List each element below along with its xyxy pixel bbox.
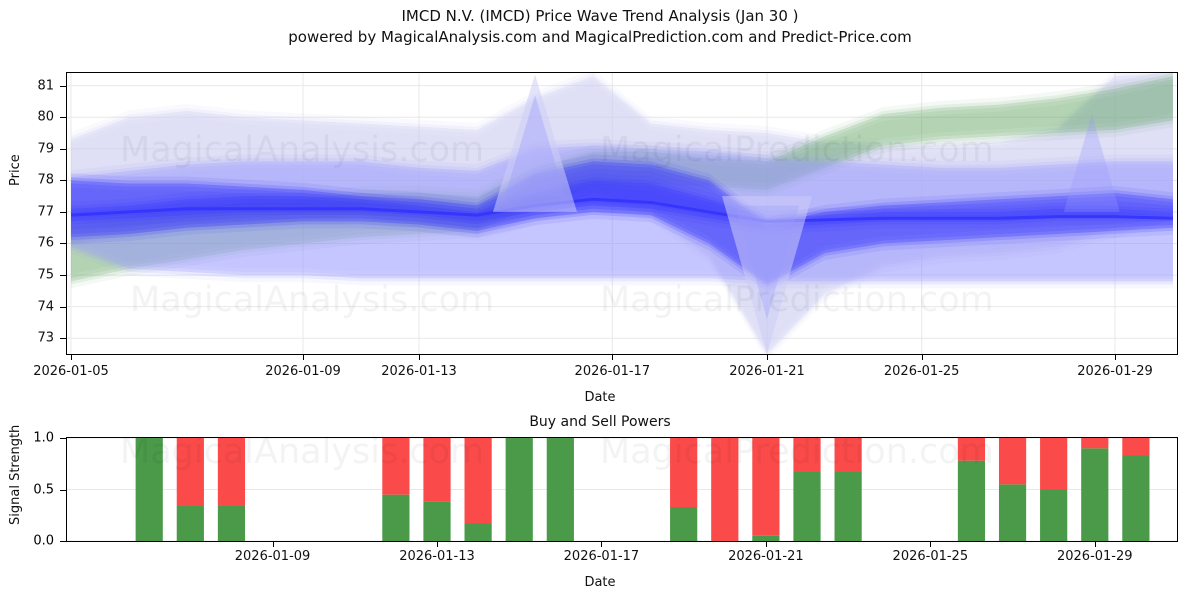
page-subtitle: powered by MagicalAnalysis.com and Magic…: [0, 26, 1200, 48]
sell-power-segment: [835, 438, 862, 472]
price-x-tick-mark: [767, 355, 768, 360]
signal-bar: [1122, 438, 1149, 541]
signal-chart-title: Buy and Sell Powers: [0, 414, 1200, 430]
price-y-tick-label: 78: [0, 173, 54, 188]
buy-sell-powers-chart: [66, 437, 1178, 542]
signal-x-tick-mark: [766, 542, 767, 547]
signal-y-tick-label: 1.0: [0, 431, 54, 446]
signal-x-tick-label: 2026-01-21: [728, 549, 804, 564]
signal-x-tick-label: 2026-01-17: [564, 549, 640, 564]
signal-x-tick-mark: [601, 542, 602, 547]
price-y-tick-label: 74: [0, 299, 54, 314]
signal-bar: [177, 438, 204, 541]
price-x-tick-label: 2026-01-05: [33, 364, 109, 379]
price-x-tick-label: 2026-01-09: [265, 364, 341, 379]
signal-x-tick-mark: [273, 542, 274, 547]
signal-x-tick-mark: [437, 542, 438, 547]
price-y-tick-label: 76: [0, 236, 54, 251]
price-x-tick-label: 2026-01-13: [381, 364, 457, 379]
chart-title-block: IMCD N.V. (IMCD) Price Wave Trend Analys…: [0, 6, 1200, 48]
buy-power-segment: [506, 438, 533, 541]
signal-bar: [218, 438, 245, 541]
buy-power-segment: [218, 506, 245, 541]
sell-power-segment: [958, 438, 985, 461]
signal-bar: [670, 438, 697, 541]
buy-power-segment: [835, 472, 862, 541]
price-plot-area: [67, 73, 1177, 354]
price-x-tick-label: 2026-01-17: [575, 364, 651, 379]
signal-x-tick-label: 2026-01-13: [399, 549, 475, 564]
buy-power-segment: [670, 507, 697, 541]
sell-power-segment: [793, 438, 820, 472]
price-x-tick-label: 2026-01-25: [884, 364, 960, 379]
signal-x-tick-label: 2026-01-25: [893, 549, 969, 564]
signal-x-tick-mark: [1095, 542, 1096, 547]
buy-power-segment: [423, 502, 450, 541]
sell-power-segment: [670, 438, 697, 507]
signal-x-tick-label: 2026-01-29: [1057, 549, 1133, 564]
buy-power-segment: [999, 484, 1026, 541]
price-y-tick-label: 77: [0, 204, 54, 219]
buy-power-segment: [1040, 490, 1067, 542]
signal-x-tick-label: 2026-01-09: [235, 549, 311, 564]
price-wave-chart: [66, 72, 1178, 355]
price-y-tick-label: 81: [0, 78, 54, 93]
signal-bar: [382, 438, 409, 541]
buy-power-segment: [547, 438, 574, 541]
buy-power-segment: [382, 495, 409, 541]
signal-bar: [506, 438, 533, 541]
sell-power-segment: [218, 438, 245, 506]
price-x-tick-label: 2026-01-29: [1077, 364, 1153, 379]
price-x-tick-mark: [1115, 355, 1116, 360]
buy-power-segment: [793, 472, 820, 541]
signal-bar: [547, 438, 574, 541]
signal-bar: [793, 438, 820, 541]
signal-bar: [1081, 438, 1108, 541]
buy-power-segment: [752, 536, 779, 541]
signal-bar: [711, 438, 738, 541]
price-x-tick-mark: [612, 355, 613, 360]
signal-bar: [465, 438, 492, 541]
sell-power-segment: [382, 438, 409, 495]
signal-y-tick-label: 0.0: [0, 534, 54, 549]
sell-power-segment: [999, 438, 1026, 484]
signal-bar: [1040, 438, 1067, 541]
signal-x-tick-mark: [930, 542, 931, 547]
price-x-tick-label: 2026-01-21: [729, 364, 805, 379]
sell-power-segment: [711, 438, 738, 541]
price-y-tick-label: 73: [0, 331, 54, 346]
signal-bar: [752, 438, 779, 541]
signal-plot-area: [67, 438, 1177, 541]
buy-power-segment: [465, 523, 492, 541]
price-x-tick-mark: [303, 355, 304, 360]
price-x-tick-mark: [419, 355, 420, 360]
sell-power-segment: [752, 438, 779, 536]
price-y-tick-label: 75: [0, 268, 54, 283]
price-x-tick-mark: [71, 355, 72, 360]
buy-power-segment: [1122, 456, 1149, 541]
buy-power-segment: [136, 438, 163, 541]
price-x-tick-mark: [922, 355, 923, 360]
buy-power-segment: [958, 461, 985, 541]
price-y-tick-label: 80: [0, 110, 54, 125]
buy-power-segment: [177, 506, 204, 541]
sell-power-segment: [1122, 438, 1149, 456]
sell-power-segment: [177, 438, 204, 506]
signal-bar: [958, 438, 985, 541]
signal-bar: [835, 438, 862, 541]
price-x-axis-label: Date: [0, 390, 1200, 405]
sell-power-segment: [423, 438, 450, 502]
signal-bar: [999, 438, 1026, 541]
sell-power-segment: [465, 438, 492, 523]
signal-y-tick-label: 0.5: [0, 482, 54, 497]
buy-power-segment: [1081, 448, 1108, 541]
sell-power-segment: [1081, 438, 1108, 448]
page-title: IMCD N.V. (IMCD) Price Wave Trend Analys…: [0, 6, 1200, 26]
signal-bar: [423, 438, 450, 541]
signal-bar: [136, 438, 163, 541]
price-y-tick-label: 79: [0, 141, 54, 156]
sell-power-segment: [1040, 438, 1067, 490]
signal-x-axis-label: Date: [0, 575, 1200, 590]
